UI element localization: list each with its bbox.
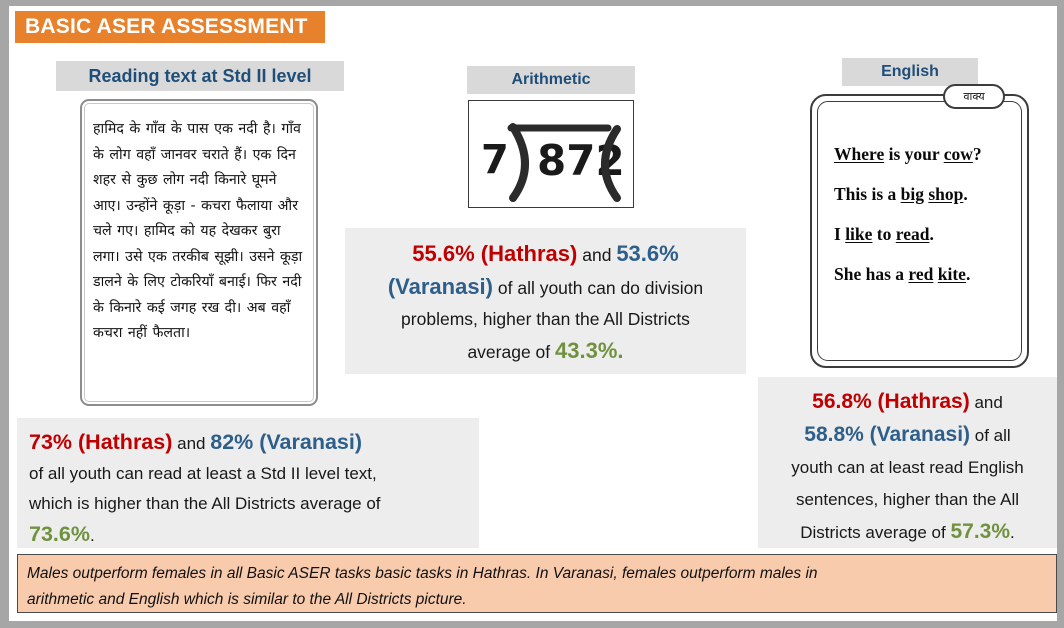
english-sentence-3: I like to read.	[834, 224, 1027, 245]
stat-reading-hathras: 73% (Hathras)	[29, 430, 172, 454]
footer-line-1: Males outperform females in all Basic AS…	[27, 561, 1046, 587]
english-sentence-1: Where is your cow?	[834, 144, 1027, 165]
stat-arith-body-3: average of	[467, 342, 550, 362]
stat-reading-and: and	[177, 434, 205, 453]
stat-reading-body-1: of all youth can read at least a Std II …	[29, 464, 377, 483]
english-card-tab-label: वाक्य	[943, 84, 1005, 109]
reading-passage-card: हामिद के गाँव के पास एक नदी है। गाँव के …	[80, 99, 318, 406]
eng3-pre: I	[834, 224, 845, 244]
divisor-text: 7	[481, 137, 509, 183]
english-sentence-list: Where is your cow? This is a big shop. I…	[812, 144, 1027, 304]
header-band: BASIC ASER ASSESSMENT	[15, 11, 325, 43]
stat-arith-body-2: problems, higher than the All Districts	[401, 309, 690, 329]
stat-arith-varanasi-label: (Varanasi)	[388, 274, 493, 299]
stat-arith-line-1: 55.6% (Hathras) and 53.6%	[353, 238, 738, 271]
stat-arith-line-4: average of 43.3%.	[353, 335, 738, 368]
stat-english-line-5: Districts average of 57.3%.	[764, 516, 1051, 549]
stat-panel-arithmetic: 55.6% (Hathras) and 53.6% (Varanasi) of …	[345, 228, 746, 374]
stat-arith-body-1: of all youth can do division	[498, 278, 703, 298]
stat-english-varanasi: 58.8% (Varanasi)	[804, 423, 970, 446]
stat-reading-all-districts: 73.6%	[29, 522, 90, 546]
slide-root: BASIC ASER ASSESSMENT Reading text at St…	[0, 0, 1064, 628]
eng4-u2: kite	[938, 264, 966, 284]
eng4-pre: She has a	[834, 264, 908, 284]
eng4-post: .	[966, 264, 970, 284]
stat-english-line-1: 56.8% (Hathras) and	[764, 386, 1051, 419]
stat-arith-varanasi-value: 53.6%	[616, 241, 678, 266]
eng2-u2: shop	[928, 184, 963, 204]
english-sentence-4: She has a red kite.	[834, 264, 1027, 285]
footer-note: Males outperform females in all Basic AS…	[17, 554, 1057, 613]
stat-reading-line-2: of all youth can read at least a Std II …	[29, 459, 469, 489]
eng1-mid: is your	[884, 144, 943, 164]
stat-english-body-2: sentences, higher than the All	[796, 490, 1019, 509]
stat-reading-body-2: which is higher than the All Districts a…	[29, 494, 381, 513]
eng3-u1: like	[845, 224, 872, 244]
eng1-u2: cow	[944, 144, 973, 164]
section-heading-reading: Reading text at Std II level	[56, 61, 344, 91]
page-title: BASIC ASER ASSESSMENT	[15, 11, 325, 43]
reading-passage-text: हामिद के गाँव के पास एक नदी है। गाँव के …	[82, 101, 316, 347]
stat-reading-varanasi: 82% (Varanasi)	[210, 430, 362, 454]
stat-arith-line-3: problems, higher than the All Districts	[353, 304, 738, 335]
footer-line-2: arithmetic and English which is similar …	[27, 587, 1046, 613]
eng3-post: .	[929, 224, 933, 244]
stat-reading-line-1: 73% (Hathras) and 82% (Varanasi)	[29, 427, 469, 459]
arithmetic-problem-card: 7 872	[468, 100, 634, 208]
stat-reading-line-4: 73.6%.	[29, 519, 469, 551]
stat-english-and: and	[974, 393, 1002, 412]
eng2-pre: This is a	[834, 184, 901, 204]
eng1-u1: Where	[834, 144, 884, 164]
eng4-u1: red	[908, 264, 933, 284]
english-sentence-2: This is a big shop.	[834, 184, 1027, 205]
english-sentences-card: वाक्य Where is your cow? This is a big s…	[810, 94, 1029, 368]
stat-arith-all-districts: 43.3%.	[555, 338, 624, 363]
stat-english-period: .	[1010, 523, 1015, 542]
eng3-u2: read	[896, 224, 930, 244]
stat-english-line-2: 58.8% (Varanasi) of all	[764, 419, 1051, 452]
eng2-u1: big	[901, 184, 924, 204]
stat-english-all-districts: 57.3%	[950, 520, 1010, 543]
stat-english-line-4: sentences, higher than the All	[764, 484, 1051, 516]
stat-arith-hathras: 55.6% (Hathras)	[412, 241, 577, 266]
eng3-mid: to	[872, 224, 895, 244]
eng1-post: ?	[973, 144, 982, 164]
section-heading-english: English	[842, 58, 978, 86]
eng2-post: .	[963, 184, 967, 204]
stat-reading-line-3: which is higher than the All Districts a…	[29, 489, 469, 519]
division-svg: 7 872	[469, 101, 632, 206]
stat-english-body-1: youth can at least read English	[791, 458, 1023, 477]
section-heading-arithmetic: Arithmetic	[467, 66, 635, 94]
stat-english-body-0: of all	[975, 426, 1011, 445]
stat-english-body-3: Districts average of	[800, 523, 946, 542]
stat-arith-and: and	[582, 245, 611, 265]
slide-canvas: BASIC ASER ASSESSMENT Reading text at St…	[9, 6, 1057, 621]
stat-panel-reading: 73% (Hathras) and 82% (Varanasi) of all …	[17, 418, 479, 548]
division-bracket-left	[513, 127, 525, 198]
stat-english-line-3: youth can at least read English	[764, 452, 1051, 484]
stat-panel-english: 56.8% (Hathras) and 58.8% (Varanasi) of …	[758, 377, 1057, 548]
long-division-figure: 7 872	[469, 101, 633, 207]
stat-reading-period: .	[90, 526, 95, 545]
stat-arith-line-2: (Varanasi) of all youth can do division	[353, 271, 738, 304]
stat-english-hathras: 56.8% (Hathras)	[812, 390, 970, 413]
